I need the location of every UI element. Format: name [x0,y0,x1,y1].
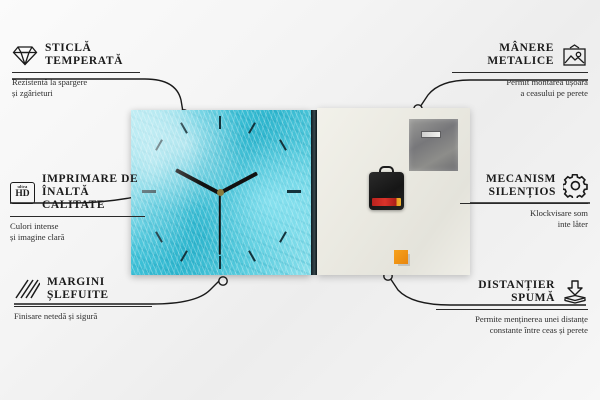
callout-divider [452,72,588,73]
callout-subtitle: Culori intense și imagine clară [10,221,145,242]
polished-edges-icon [14,279,40,300]
callout-silent-mechanism: MECANISM SILENȚIOS Klockvisare som inte … [460,173,588,229]
clock-minute-hand [175,169,221,196]
callout-title: MARGINI ȘLEFUITE [47,276,109,302]
callout-title: DISTANȚIER SPUMĂ [478,279,555,305]
callout-divider [460,203,588,204]
leader-dot-polished-edges [219,277,227,285]
clock-second-hand [219,193,221,255]
callout-title: STICLĂ TEMPERATĂ [45,42,123,68]
infographic-canvas: STICLĂ TEMPERATĂ Rezistentă la spargere … [0,0,600,400]
clock-hour-hand [219,172,258,195]
callout-divider [436,309,588,310]
metal-hanger-plate [409,119,458,171]
diamond-icon [12,45,38,66]
foam-spacer-pad [394,250,408,264]
callout-foam-spacer: DISTANȚIER SPUMĂ Permite menținerea unei… [436,279,588,335]
hd-badge-main-label: HD [15,190,29,200]
callout-title: IMPRIMARE DE ÎNALTĂ CALITATE [42,173,145,212]
hanger-slot [421,131,441,138]
callout-divider [12,72,140,73]
callout-title: MÂNERE METALICE [487,42,554,68]
picture-frame-hanger-icon [561,44,588,67]
callout-hd-print: ultra HD IMPRIMARE DE ÎNALTĂ CALITATE Cu… [10,173,145,242]
callout-subtitle: Rezistentă la spargere și zgârieturi [12,77,140,98]
callout-divider [10,216,145,217]
callout-subtitle: Permite menținerea unei distanțe constan… [436,314,588,335]
callout-metal-handles: MÂNERE METALICE Permit montarea ușoară a… [452,42,588,98]
callout-divider [14,306,152,307]
clock-front-face [131,110,311,275]
callout-subtitle: Klockvisare som inte låter [460,208,588,229]
gear-icon [563,174,588,198]
aa-battery [372,198,401,206]
ultra-hd-badge-icon: ultra HD [10,182,35,204]
clock-center-cap [217,189,224,196]
callout-polished-edges: MARGINI ȘLEFUITE Finisare netedă și sigu… [14,276,152,322]
callout-subtitle: Finisare netedă și sigură [14,311,152,322]
arrow-down-pad-icon [562,280,588,304]
callout-title: MECANISM SILENȚIOS [486,173,556,199]
callout-subtitle: Permit montarea ușoară a ceasului pe per… [452,77,588,98]
callout-tempered-glass: STICLĂ TEMPERATĂ Rezistentă la spargere … [12,42,140,98]
